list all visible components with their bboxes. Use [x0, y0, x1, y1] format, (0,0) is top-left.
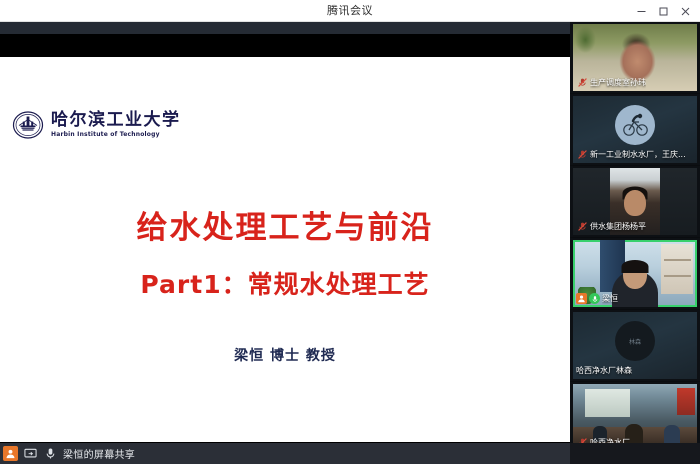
- avatar: [615, 105, 655, 145]
- participant-tile[interactable]: 林森 哈西净水厂林森: [570, 310, 700, 382]
- screen-share-label: 梁恒的屏幕共享: [63, 446, 135, 461]
- screen-share-status-bar: 梁恒的屏幕共享: [0, 443, 570, 464]
- microphone-muted-icon: [576, 77, 588, 88]
- hit-emblem-icon: [12, 109, 44, 141]
- participant-label: 生产调度室孙玮: [574, 76, 648, 89]
- participant-rail[interactable]: 生产调度室孙玮: [570, 22, 700, 464]
- shared-screen-stage[interactable]: 哈尔滨工业大学 Harbin Institute of Technology 给…: [0, 22, 570, 443]
- microphone-icon: [43, 446, 58, 461]
- university-name-cn: 哈尔滨工业大学: [51, 112, 181, 129]
- microphone-muted-icon: [576, 221, 588, 232]
- cyclist-avatar-icon: [620, 110, 650, 140]
- participant-label: 供水集团杨杨平: [574, 220, 648, 233]
- university-logo-text: 哈尔滨工业大学 Harbin Institute of Technology: [51, 112, 181, 138]
- maximize-icon[interactable]: [652, 1, 674, 21]
- participant-name: 供水集团杨杨平: [590, 220, 646, 233]
- participant-name: 哈西净水厂林森: [576, 364, 632, 377]
- slide-author: 梁恒 博士 教授: [0, 345, 570, 365]
- close-icon[interactable]: [674, 1, 696, 21]
- host-badge-icon: [576, 293, 587, 304]
- avatar: 林森: [615, 321, 655, 361]
- window-title-bar: 腾讯会议: [0, 0, 700, 22]
- participant-name: 生产调度室孙玮: [590, 76, 646, 89]
- screen-share-icon: [23, 446, 38, 461]
- microphone-muted-icon: [576, 149, 588, 160]
- avatar-initial: 林森: [629, 337, 641, 346]
- slide-subtitle: Part1：常规水处理工艺: [0, 265, 570, 301]
- participant-name: 梁恒: [602, 292, 618, 305]
- minimize-icon[interactable]: [630, 1, 652, 21]
- presentation-slide: 哈尔滨工业大学 Harbin Institute of Technology 给…: [0, 57, 570, 442]
- window-title: 腾讯会议: [327, 0, 373, 22]
- slide-title: 给水处理工艺与前沿: [0, 202, 570, 247]
- stage-letterbox-top: [0, 22, 570, 34]
- university-name-en: Harbin Institute of Technology: [51, 132, 181, 138]
- participant-tile-active[interactable]: 梁恒: [570, 238, 700, 310]
- host-badge-icon: [3, 446, 18, 461]
- rail-filler: [570, 443, 700, 464]
- participant-tile[interactable]: 新一工业制水水厂，王庆...: [570, 94, 700, 166]
- university-logo: 哈尔滨工业大学 Harbin Institute of Technology: [12, 109, 181, 141]
- window-controls: [630, 0, 696, 22]
- participant-label: 新一工业制水水厂，王庆...: [574, 148, 688, 161]
- participant-label: 哈西净水厂林森: [574, 364, 634, 377]
- tencent-meeting-window: 腾讯会议: [0, 0, 700, 464]
- participant-name: 新一工业制水水厂，王庆...: [590, 148, 686, 161]
- participant-tile[interactable]: 供水集团杨杨平: [570, 166, 700, 238]
- participant-tile[interactable]: 生产调度室孙玮: [570, 22, 700, 94]
- participant-label: 梁恒: [574, 292, 620, 305]
- microphone-active-icon: [589, 293, 600, 304]
